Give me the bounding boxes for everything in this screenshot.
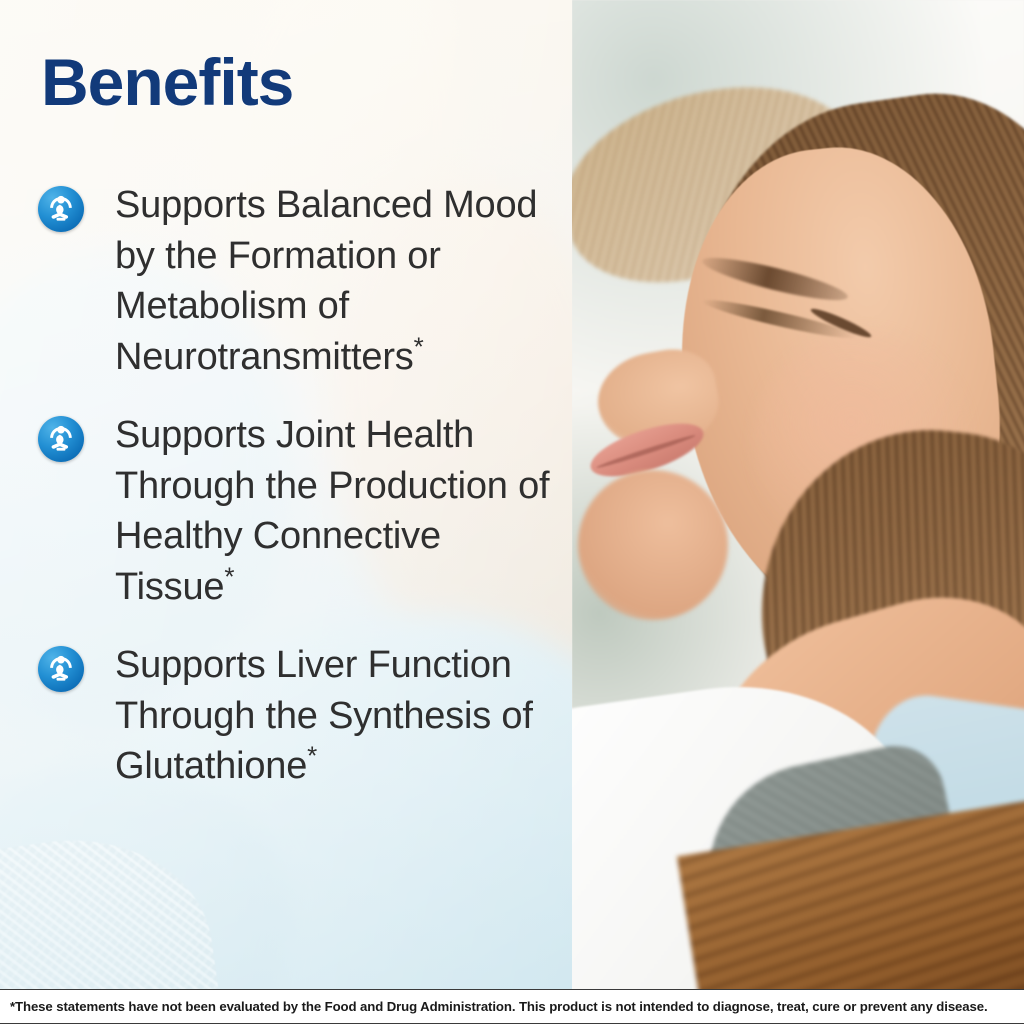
- benefit-text: Supports Liver Function Through the Synt…: [115, 640, 558, 792]
- benefits-list: Supports Balanced Mood by the Formation …: [38, 180, 558, 820]
- woman-relaxing-photo: [572, 0, 1024, 989]
- meditation-lotus-pose-icon: [38, 186, 84, 232]
- meditation-lotus-pose-icon: [38, 416, 84, 462]
- meditation-lotus-pose-icon: [38, 646, 84, 692]
- benefit-text: Supports Joint Health Through the Produc…: [115, 410, 558, 612]
- benefit-item: Supports Joint Health Through the Produc…: [38, 410, 558, 612]
- benefits-content: Benefits Supports Balanced Mood by the F…: [0, 0, 572, 989]
- benefit-text: Supports Balanced Mood by the Formation …: [115, 180, 558, 382]
- page-title: Benefits: [41, 44, 293, 120]
- benefit-item: Supports Liver Function Through the Synt…: [38, 640, 558, 792]
- benefits-infographic: Benefits Supports Balanced Mood by the F…: [0, 0, 1024, 1024]
- disclaimer-text: *These statements have not been evaluate…: [0, 999, 988, 1014]
- footnote-marker: *: [307, 741, 317, 771]
- chin: [578, 470, 728, 620]
- disclaimer-bar: *These statements have not been evaluate…: [0, 989, 1024, 1024]
- footnote-marker: *: [224, 561, 234, 591]
- benefit-item: Supports Balanced Mood by the Formation …: [38, 180, 558, 382]
- footnote-marker: *: [414, 331, 424, 361]
